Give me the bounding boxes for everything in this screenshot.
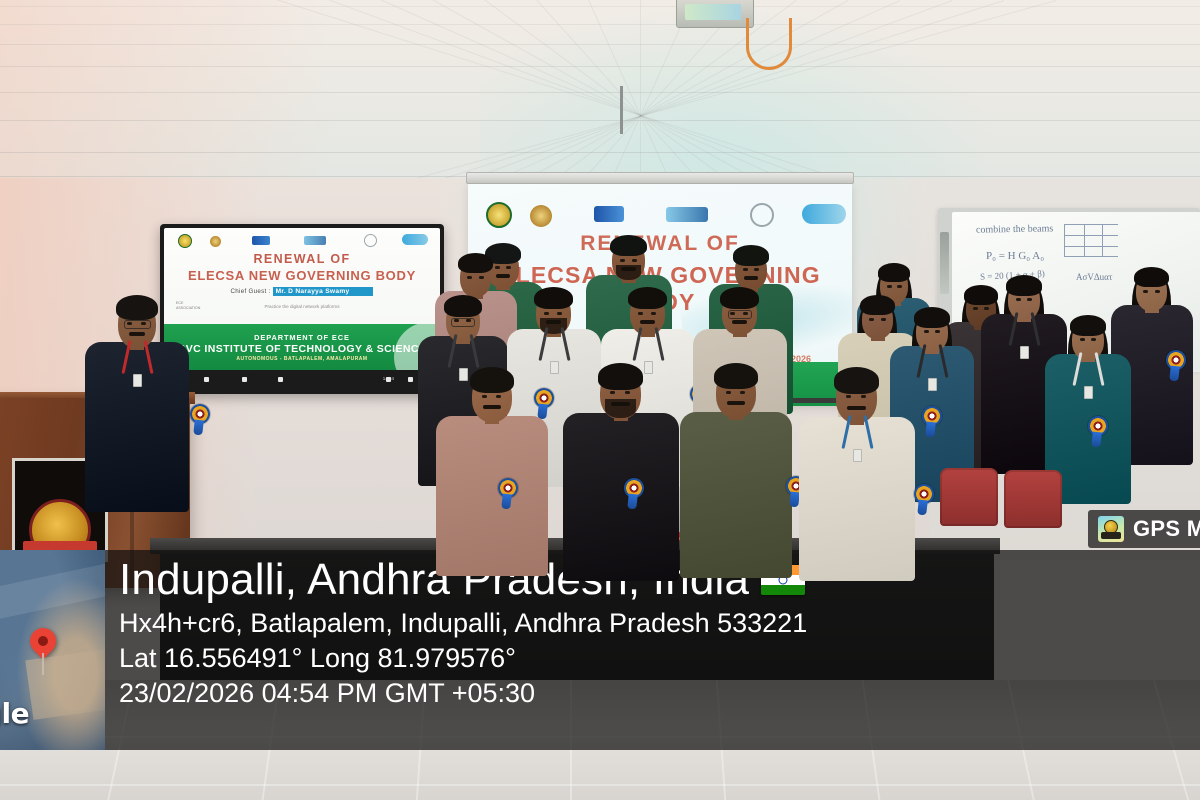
person-20-glasses <box>124 320 151 329</box>
person-2-beard <box>616 265 641 281</box>
tv-button-2[interactable] <box>242 377 247 382</box>
person-19-eye-right <box>897 285 902 288</box>
person-6-eye-right <box>651 312 656 315</box>
person-14-id-card <box>928 378 937 391</box>
person-20-torso <box>85 342 189 512</box>
person-11-hair-top <box>714 363 758 389</box>
person-12-rosette-badge <box>914 484 934 504</box>
map-thumbnail[interactable]: gle <box>0 550 105 750</box>
slide-logo-accreditation <box>530 205 552 227</box>
ceiling-projector <box>676 0 754 28</box>
person-10-hair-top <box>598 363 643 390</box>
whiteboard-table-sketch <box>1064 224 1118 256</box>
tv-control-bar[interactable]: 14:54 <box>164 370 440 390</box>
person-8-hair-top <box>458 253 493 273</box>
photo-canvas: RENEWAL OF ELECSA NEW GOVERNING BODY Chi… <box>0 0 1200 800</box>
tv-title-line2: ELECSA NEW GOVERNING BODY <box>164 268 440 283</box>
person-11-moustache <box>727 401 745 405</box>
person-11-eye-left <box>726 391 731 394</box>
tv-chief-guest-role: Practice the digital network platforms <box>164 304 440 309</box>
person-12-hair-top <box>834 367 879 394</box>
tv-slide-logos <box>164 232 440 250</box>
gps-app-label: GPS M <box>1133 516 1200 542</box>
gps-map-camera-icon <box>1098 516 1124 542</box>
person-7-glasses <box>728 310 753 319</box>
person-5-id-card <box>550 361 559 374</box>
orange-cable <box>746 18 792 70</box>
ceiling-hanger-rod <box>620 86 623 134</box>
person-6-eye-left <box>638 312 643 315</box>
person-6-hair-top <box>628 287 667 309</box>
person-17-eye-left <box>1080 338 1085 341</box>
logo-peacock <box>402 234 428 245</box>
smart-tv-display: RENEWAL OF ELECSA NEW GOVERNING BODY Chi… <box>160 224 444 394</box>
person-14-rosette-badge <box>922 406 942 426</box>
person-10-beard <box>605 399 636 418</box>
tv-button-3[interactable] <box>278 377 283 382</box>
timestamp-line: 23/02/2026 04:54 PM GMT +05:30 <box>119 676 1200 711</box>
projection-screen-housing <box>466 172 854 184</box>
person-18-eye-right <box>1155 290 1160 293</box>
tv-button-5[interactable] <box>408 377 413 382</box>
tv-chief-guest-name: Mr. D Narayya Swamy <box>273 287 374 296</box>
person-8-eye-right <box>479 276 484 279</box>
person-14-hair-top <box>914 307 950 328</box>
person-20-moustache <box>129 332 146 336</box>
person-5-hair-top <box>534 287 573 309</box>
logo-ring <box>364 234 377 247</box>
person-4-id-card <box>459 368 468 381</box>
logo-accreditation <box>210 236 221 247</box>
gps-map-camera-badge: GPS M <box>1088 510 1200 548</box>
person-11-torso <box>680 412 792 578</box>
person-9-moustache <box>483 405 501 409</box>
person-2-eye-right <box>632 259 637 262</box>
slide-logo-comsoc <box>666 207 708 222</box>
slide-logo-row <box>468 202 852 228</box>
person-16-hair-top <box>1006 275 1042 296</box>
person-9-eye-right <box>496 395 501 398</box>
person-6-id-card <box>644 361 653 374</box>
person-2-eye-left <box>620 259 625 262</box>
person-17-hair-top <box>1070 315 1106 336</box>
person-6-moustache <box>640 320 655 324</box>
person-5-eye-right <box>557 312 562 315</box>
person-9-torso <box>436 416 548 576</box>
person-12-torso <box>799 417 915 581</box>
person-19-eye-left <box>887 285 892 288</box>
tv-button-4[interactable] <box>386 377 391 382</box>
tv-institute: BVC INSTITUTE OF TECHNOLOGY & SCIENCE <box>178 343 427 355</box>
ceiling <box>0 0 1200 178</box>
person-9-rosette-badge <box>498 478 518 498</box>
whiteboard-marker-tray <box>940 232 949 294</box>
person-1-moustache <box>496 274 510 278</box>
tv-chief-guest-label: Chief Guest : <box>231 288 271 295</box>
whiteboard-line-4: AσVΔuατ <box>1076 272 1112 282</box>
slide-logo-ring <box>750 203 774 227</box>
person-10-rosette-badge <box>624 478 644 498</box>
person-18-hair-top <box>1134 267 1169 287</box>
person-1-eye-left <box>495 266 500 269</box>
person-19-hair-top <box>878 263 910 282</box>
person-3-moustache <box>744 276 758 280</box>
slide-logo-peacock <box>802 204 846 224</box>
person-3-eye-left <box>743 268 748 271</box>
person-9-hair-top <box>470 367 514 393</box>
slide-logo-college-seal <box>486 202 512 228</box>
logo-college-seal <box>178 234 192 248</box>
tv-dept: DEPARTMENT OF ECE <box>254 333 350 342</box>
logo-nba <box>252 236 270 245</box>
slide-title-line1: RENEWAL OF <box>468 232 852 256</box>
chair-2 <box>1004 470 1062 528</box>
person-4-hair-top <box>444 295 482 317</box>
logo-comsoc <box>304 236 326 245</box>
smart-tv-screen: RENEWAL OF ELECSA NEW GOVERNING BODY Chi… <box>164 228 440 370</box>
tv-title-line1: RENEWAL OF <box>164 252 440 266</box>
person-14-eye-left <box>924 330 929 333</box>
person-20-rosette-badge <box>190 404 210 424</box>
person-10-torso <box>563 413 679 581</box>
person-7-hair-top <box>720 287 759 309</box>
chair-1 <box>940 468 998 526</box>
person-5-eye-left <box>544 312 549 315</box>
person-15-hair-top <box>964 285 998 305</box>
google-watermark: gle <box>0 697 29 730</box>
person-20-id-card <box>133 374 142 387</box>
map-pin-stem <box>42 653 44 675</box>
whiteboard-line-1: combine the beams <box>976 223 1053 235</box>
coordinates-line: Lat 16.556491° Long 81.979576° <box>119 641 1200 676</box>
address-line: Hx4h+cr6, Batlapalem, Indupalli, Andhra … <box>119 606 1200 641</box>
person-13-hair-top <box>860 295 895 315</box>
tv-green-band: DEPARTMENT OF ECE BVC INSTITUTE OF TECHN… <box>164 324 440 370</box>
person-3-hair-top <box>733 245 769 266</box>
person-9-eye-left <box>482 395 487 398</box>
person-17-rosette-badge <box>1088 416 1108 436</box>
person-20-hair-top <box>116 295 158 320</box>
person-7-moustache <box>732 320 747 324</box>
person-18-rosette-badge <box>1166 350 1186 370</box>
tv-chief-guest: Chief Guest : Mr. D Narayya Swamy <box>164 288 440 295</box>
person-4-glasses <box>451 318 475 327</box>
person-5-rosette-badge <box>534 388 554 408</box>
person-11-eye-right <box>740 391 745 394</box>
person-17-id-card <box>1084 386 1093 399</box>
person-12-id-card <box>853 449 862 462</box>
person-12-moustache <box>847 406 865 410</box>
slide-logo-nba <box>594 206 624 222</box>
whiteboard-line-2: P₀ = H G₀ A₀ <box>986 250 1044 262</box>
person-2-hair-top <box>610 235 647 256</box>
person-13-eye-right <box>881 318 886 321</box>
tv-autonomous: AUTONOMOUS - BATLAPALEM, AMALAPURAM <box>236 356 367 362</box>
person-16-eye-left <box>1016 298 1021 301</box>
person-16-id-card <box>1020 346 1029 359</box>
tv-button-1[interactable] <box>204 377 209 382</box>
